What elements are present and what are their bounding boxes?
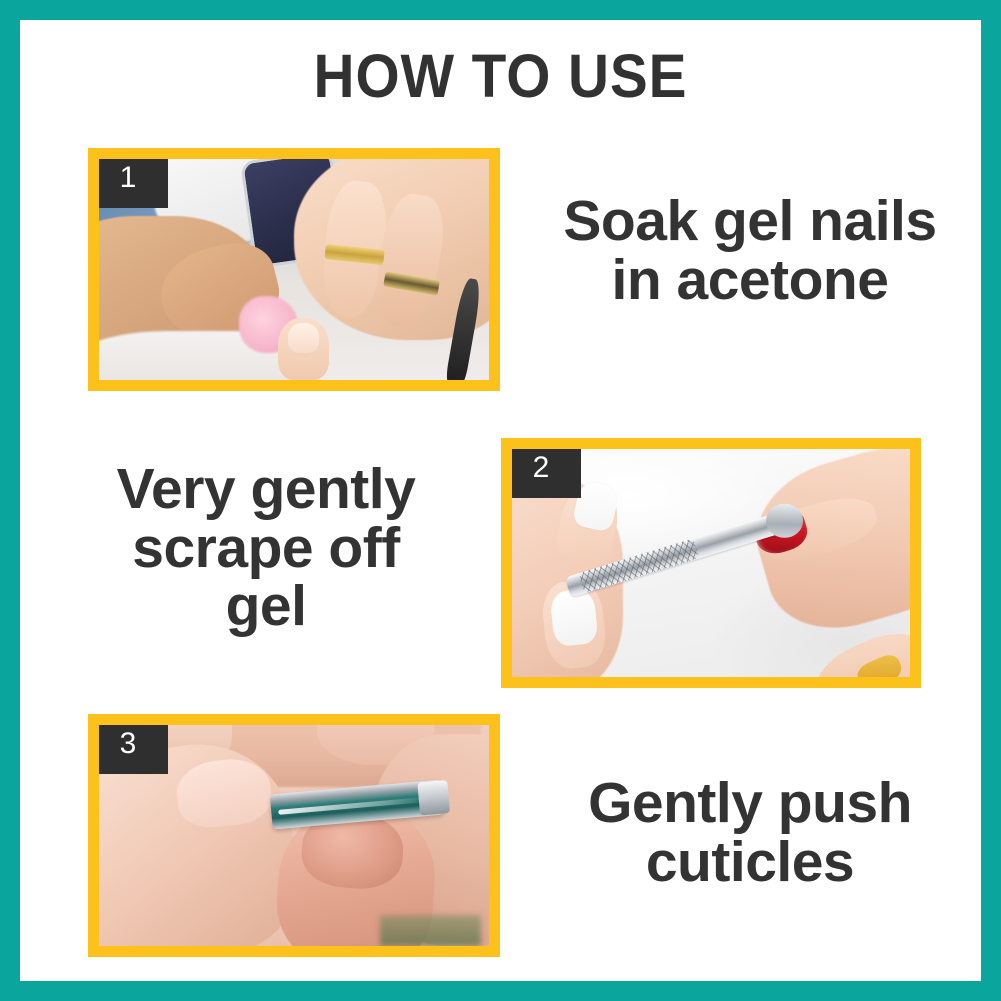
- tool-spoon-tip: [765, 503, 803, 538]
- nail-shape: [288, 323, 319, 354]
- caption-line: scrape off: [42, 519, 490, 578]
- caption-line: in acetone: [526, 251, 974, 310]
- caption-line: Very gently: [42, 460, 490, 519]
- step-1-number-badge: 1: [88, 148, 168, 208]
- step-3-number-badge: 3: [88, 714, 168, 774]
- page-title: HOW TO USE: [54, 44, 948, 108]
- caption-line: Soak gel nails: [526, 192, 974, 251]
- step-1-caption: Soak gel nails in acetone: [526, 192, 974, 309]
- step-row-3: 3: [20, 696, 981, 958]
- caption-line: gel: [42, 577, 490, 636]
- step-row-1: 1: [20, 130, 981, 392]
- step-3-photo-panel: 3: [88, 714, 500, 957]
- step-row-2: Very gently scrape off gel 2: [20, 420, 981, 682]
- infographic-card: HOW TO USE 1: [0, 0, 1001, 1001]
- caption-line: cuticles: [526, 833, 974, 892]
- step-2-number-badge: 2: [501, 438, 581, 498]
- step-2-caption: Very gently scrape off gel: [42, 460, 490, 636]
- white-nail-shape: [549, 588, 598, 647]
- step-2-photo-panel: 2: [501, 438, 921, 688]
- background-shade: [380, 915, 481, 946]
- caption-line: Gently push: [526, 774, 974, 833]
- step-3-caption: Gently push cuticles: [526, 774, 974, 891]
- tool-highlight: [278, 797, 429, 815]
- infographic-canvas: HOW TO USE 1: [20, 20, 981, 981]
- step-1-photo-panel: 1: [88, 148, 500, 391]
